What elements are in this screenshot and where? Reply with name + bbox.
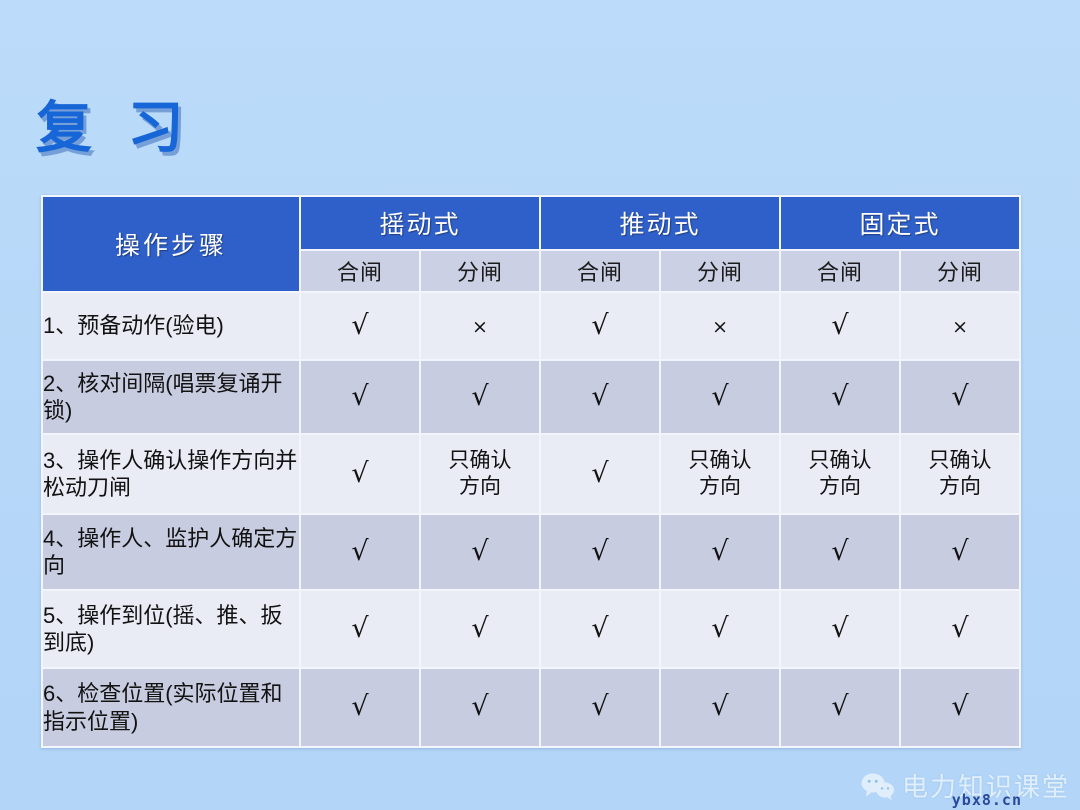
table-header-row-main: 操作步骤 摇动式 推动式 固定式	[43, 197, 1019, 249]
check-icon: √	[591, 538, 608, 565]
step-value-cell: 只确认方向	[421, 435, 539, 513]
subheader-gudingshi-hezha: 合闸	[781, 251, 899, 291]
subheader-tuidongshi-hezha: 合闸	[541, 251, 659, 291]
step-value-cell: √	[901, 669, 1019, 746]
check-icon: √	[831, 312, 848, 339]
check-icon: √	[831, 693, 848, 720]
step-value-cell: √	[661, 361, 779, 433]
step-value-cell: √	[901, 361, 1019, 433]
table-row: 4、操作人、监护人确定方向√√√√√√	[43, 515, 1019, 589]
subheader-tuidongshi-fenzha: 分闸	[661, 251, 779, 291]
step-value-cell: √	[781, 515, 899, 589]
operation-steps-table: 操作步骤 摇动式 推动式 固定式 合闸 分闸 合闸 分闸 合闸 分闸 1、预备动…	[41, 195, 1021, 748]
step-value-cell: √	[901, 591, 1019, 667]
check-icon: √	[351, 460, 368, 487]
check-icon: √	[711, 693, 728, 720]
table-row: 5、操作到位(摇、推、扳到底)√√√√√√	[43, 591, 1019, 667]
step-value-cell: 只确认方向	[781, 435, 899, 513]
column-group-header-gudingshi: 固定式	[781, 197, 1019, 249]
table-row: 1、预备动作(验电)√×√×√×	[43, 293, 1019, 359]
step-value-cell: ×	[901, 293, 1019, 359]
check-icon: √	[591, 615, 608, 642]
step-value-cell: √	[781, 669, 899, 746]
check-icon: √	[591, 312, 608, 339]
step-value-cell: √	[541, 515, 659, 589]
step-value-cell: √	[421, 591, 539, 667]
step-value-cell: √	[301, 591, 419, 667]
table-row: 6、检查位置(实际位置和指示位置)√√√√√√	[43, 669, 1019, 746]
check-icon: √	[471, 538, 488, 565]
step-value-cell: ×	[661, 293, 779, 359]
cross-icon: ×	[712, 318, 728, 337]
check-icon: √	[471, 615, 488, 642]
step-value-cell: ×	[421, 293, 539, 359]
step-value-cell: √	[421, 361, 539, 433]
wechat-icon	[861, 772, 895, 802]
steps-table-container: 操作步骤 摇动式 推动式 固定式 合闸 分闸 合闸 分闸 合闸 分闸 1、预备动…	[41, 195, 1011, 748]
step-value-cell: 只确认方向	[901, 435, 1019, 513]
table-head: 操作步骤 摇动式 推动式 固定式 合闸 分闸 合闸 分闸 合闸 分闸	[43, 197, 1019, 291]
check-icon: √	[591, 693, 608, 720]
table-row: 3、操作人确认操作方向并松动刀闸√只确认方向√只确认方向只确认方向只确认方向	[43, 435, 1019, 513]
check-icon: √	[711, 538, 728, 565]
step-value-cell: √	[661, 591, 779, 667]
step-value-cell: √	[901, 515, 1019, 589]
step-value-cell: √	[541, 361, 659, 433]
step-value-cell: √	[661, 669, 779, 746]
table-row: 2、核对间隔(唱票复诵开锁)√√√√√√	[43, 361, 1019, 433]
column-group-header-tuidongshi: 推动式	[541, 197, 779, 249]
check-icon: √	[351, 312, 368, 339]
check-icon: √	[831, 538, 848, 565]
step-value-cell: √	[541, 435, 659, 513]
step-value-cell: √	[781, 591, 899, 667]
step-value-cell: √	[541, 293, 659, 359]
step-value-cell: √	[301, 361, 419, 433]
subheader-yaodongshi-hezha: 合闸	[301, 251, 419, 291]
step-label: 6、检查位置(实际位置和指示位置)	[43, 669, 299, 746]
step-value-cell: √	[301, 669, 419, 746]
step-value-cell: √	[661, 515, 779, 589]
step-value-cell: √	[781, 361, 899, 433]
check-icon: √	[951, 693, 968, 720]
check-icon: √	[951, 538, 968, 565]
step-value-cell: √	[301, 293, 419, 359]
step-label: 2、核对间隔(唱票复诵开锁)	[43, 361, 299, 433]
column-header-step: 操作步骤	[43, 197, 299, 291]
check-icon: √	[351, 615, 368, 642]
step-label: 5、操作到位(摇、推、扳到底)	[43, 591, 299, 667]
cross-icon: ×	[952, 318, 968, 337]
check-icon: √	[711, 383, 728, 410]
check-icon: √	[591, 383, 608, 410]
step-label: 3、操作人确认操作方向并松动刀闸	[43, 435, 299, 513]
step-value-cell: √	[301, 435, 419, 513]
check-icon: √	[351, 693, 368, 720]
step-value-cell: 只确认方向	[661, 435, 779, 513]
cell-note: 只确认方向	[689, 448, 752, 499]
check-icon: √	[591, 460, 608, 487]
cell-note: 只确认方向	[809, 448, 872, 499]
check-icon: √	[831, 383, 848, 410]
subheader-gudingshi-fenzha: 分闸	[901, 251, 1019, 291]
check-icon: √	[471, 693, 488, 720]
check-icon: √	[951, 383, 968, 410]
page-title: 复 习	[36, 100, 194, 156]
step-label: 4、操作人、监护人确定方向	[43, 515, 299, 589]
cross-icon: ×	[472, 318, 488, 337]
step-label: 1、预备动作(验电)	[43, 293, 299, 359]
check-icon: √	[951, 615, 968, 642]
check-icon: √	[351, 538, 368, 565]
slide-canvas: 复 习 操作步骤 摇动式 推动式 固定式 合闸 分闸 合闸	[0, 0, 1080, 810]
cell-note: 只确认方向	[449, 448, 512, 499]
watermark-url: ybx8.cn	[952, 791, 1022, 809]
step-value-cell: √	[421, 669, 539, 746]
cell-note: 只确认方向	[929, 448, 992, 499]
check-icon: √	[711, 615, 728, 642]
subheader-yaodongshi-fenzha: 分闸	[421, 251, 539, 291]
check-icon: √	[831, 615, 848, 642]
step-value-cell: √	[781, 293, 899, 359]
step-value-cell: √	[541, 669, 659, 746]
check-icon: √	[351, 383, 368, 410]
check-icon: √	[471, 383, 488, 410]
table-body: 1、预备动作(验电)√×√×√×2、核对间隔(唱票复诵开锁)√√√√√√3、操作…	[43, 293, 1019, 746]
step-value-cell: √	[301, 515, 419, 589]
step-value-cell: √	[421, 515, 539, 589]
step-value-cell: √	[541, 591, 659, 667]
column-group-header-yaodongshi: 摇动式	[301, 197, 539, 249]
